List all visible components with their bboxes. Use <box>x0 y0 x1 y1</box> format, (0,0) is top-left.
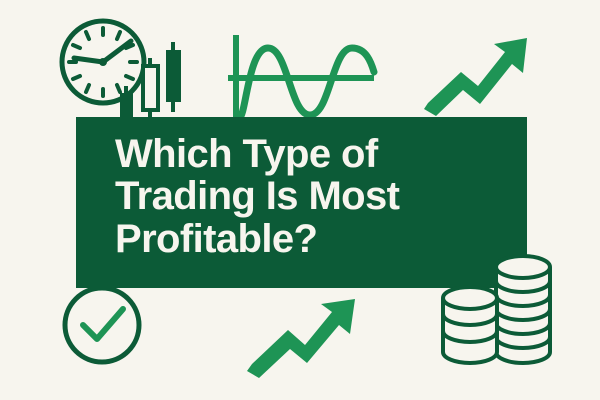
coin-stack-right <box>496 256 550 363</box>
coin-stacks-icon <box>443 256 550 363</box>
foreground-artwork <box>0 0 600 400</box>
coin-stack-left <box>443 287 497 363</box>
poster-canvas: Which Type of Trading Is Most Profitable… <box>0 0 600 400</box>
